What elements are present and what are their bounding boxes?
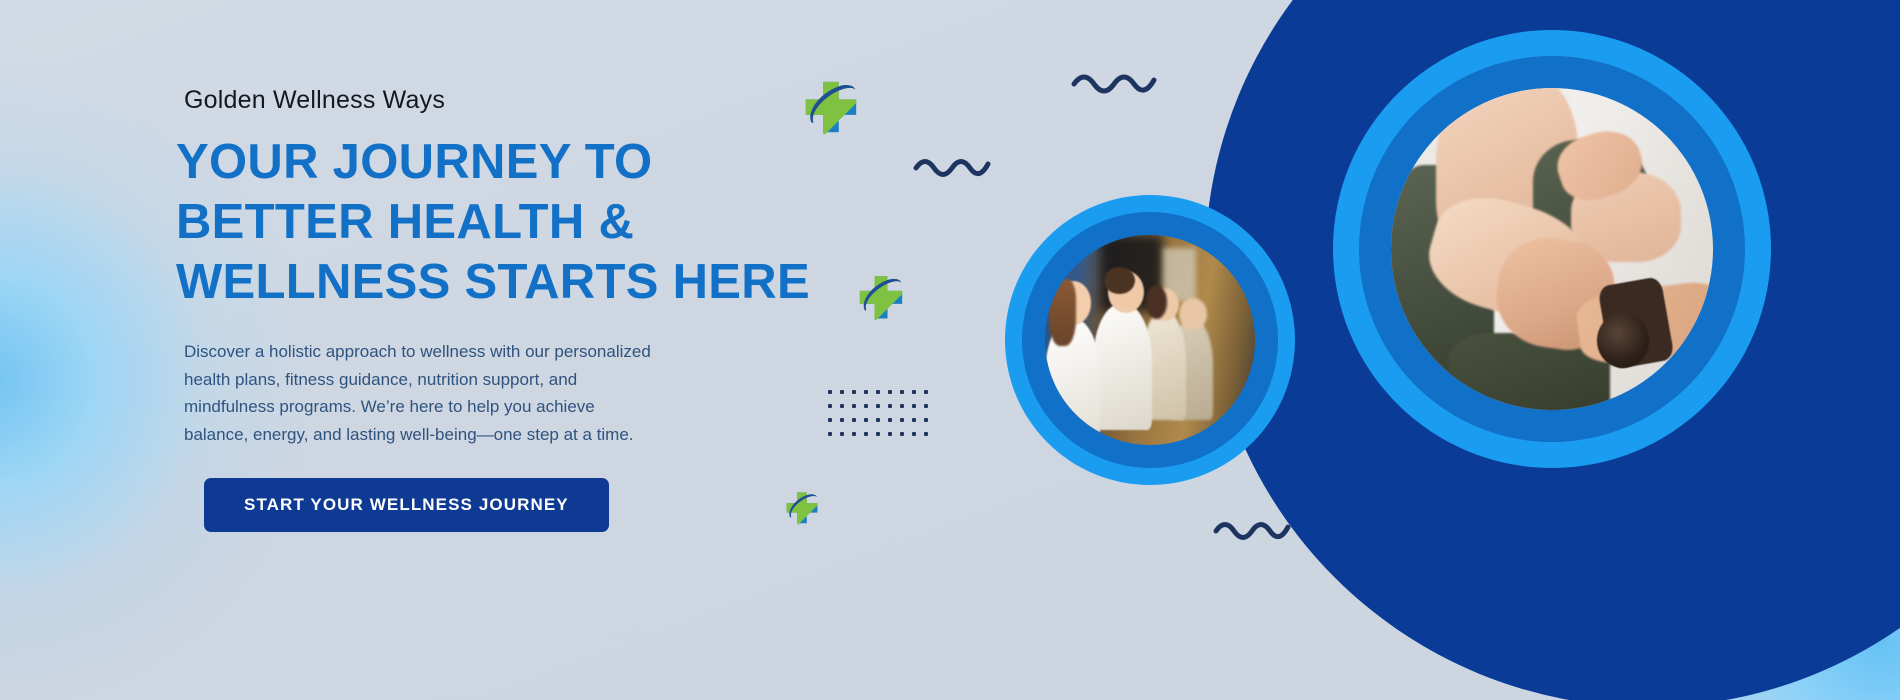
meditation-photo-circle (1005, 195, 1295, 485)
wave-squiggle-icon-bottom (1212, 515, 1302, 546)
dot (828, 418, 832, 422)
dot (924, 432, 928, 436)
dot (876, 432, 880, 436)
start-wellness-journey-button[interactable]: START YOUR WELLNESS JOURNEY (204, 478, 609, 532)
dot (852, 390, 856, 394)
dot (924, 390, 928, 394)
dot (840, 390, 844, 394)
page-title: YOUR JOURNEY TO BETTER HEALTH & WELLNESS… (176, 133, 796, 312)
dot (888, 404, 892, 408)
dot (864, 390, 868, 394)
dot (900, 390, 904, 394)
dot (852, 418, 856, 422)
dot (828, 404, 832, 408)
dot (852, 432, 856, 436)
hero-description: Discover a holistic approach to wellness… (184, 338, 654, 448)
dot (900, 432, 904, 436)
dot-grid-decoration (828, 390, 936, 446)
dot (840, 418, 844, 422)
dot (912, 432, 916, 436)
dot (924, 404, 928, 408)
headline-line-2: BETTER HEALTH & (176, 193, 796, 253)
dot (840, 432, 844, 436)
dot (876, 390, 880, 394)
dot (912, 404, 916, 408)
dot (888, 418, 892, 422)
wave-squiggle-icon-middle (912, 152, 1002, 183)
dot (864, 404, 868, 408)
medical-cross-icon-small (783, 490, 821, 528)
dot (924, 418, 928, 422)
meditation-photo (1045, 235, 1255, 445)
dot (912, 418, 916, 422)
hero-banner: Golden Wellness Ways YOUR JOURNEY TO BET… (0, 0, 1900, 700)
therapy-photo-circle (1333, 30, 1771, 468)
dot (900, 404, 904, 408)
dot (888, 432, 892, 436)
dot (900, 418, 904, 422)
therapy-photo (1391, 88, 1713, 410)
wave-squiggle-icon-top (1070, 68, 1166, 99)
dot (852, 404, 856, 408)
medical-cross-icon-medium (855, 273, 907, 325)
dot (840, 404, 844, 408)
dot (828, 432, 832, 436)
dot (888, 390, 892, 394)
dot (828, 390, 832, 394)
headline-line-3: WELLNESS STARTS HERE (176, 253, 796, 313)
dot (864, 418, 868, 422)
dot (876, 418, 880, 422)
brand-eyebrow: Golden Wellness Ways (184, 86, 796, 115)
dot (912, 390, 916, 394)
dot (864, 432, 868, 436)
medical-cross-icon-large (800, 78, 862, 140)
dot (876, 404, 880, 408)
hero-text-column: Golden Wellness Ways YOUR JOURNEY TO BET… (176, 86, 796, 532)
headline-line-1: YOUR JOURNEY TO (176, 133, 796, 193)
